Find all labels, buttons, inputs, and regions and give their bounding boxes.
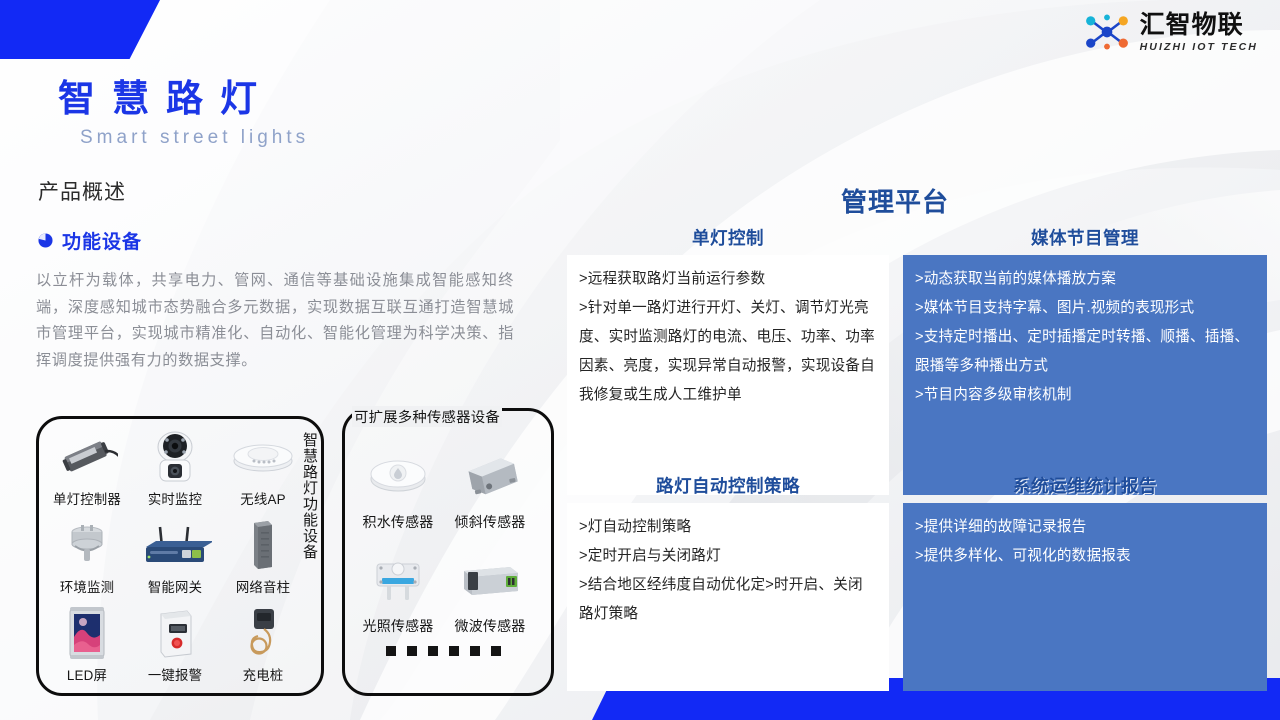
- device-item-realtime-monitoring: 实时监控: [132, 420, 218, 508]
- sensor-label: 倾斜传感器: [455, 512, 526, 532]
- device-item-network-speaker: 网络音柱: [220, 508, 306, 596]
- feature-devices-heading: 功能设备: [38, 227, 142, 254]
- device-item-wireless-ap: 无线AP: [220, 420, 306, 508]
- page-title-en: Smart street lights: [80, 127, 309, 149]
- led-driver-icon: [56, 429, 118, 485]
- card-title: 媒体节目管理: [903, 225, 1267, 250]
- platform-title: 管理平台: [841, 182, 949, 219]
- card-title: 单灯控制: [567, 225, 889, 250]
- network-speaker-icon: [248, 517, 278, 573]
- dot: [449, 646, 459, 656]
- emergency-call-icon: [154, 605, 196, 661]
- card-line: >节目内容多级审核机制: [915, 381, 1255, 410]
- sensor-box-dots: [386, 646, 501, 656]
- card-auto-control-strategy: 路灯自动控制策略 >灯自动控制策略 >定时开启与关闭路灯 >结合地区经纬度自动优…: [567, 473, 889, 691]
- device-item-smart-gateway: 智能网关: [132, 508, 218, 596]
- card-line: >针对单一路灯进行开灯、关灯、调节灯光亮度、实时监测路灯的电流、电压、功率、功率…: [579, 294, 877, 410]
- section-title-overview: 产品概述: [38, 176, 126, 206]
- device-item-ev-charger: 充电桩: [220, 596, 306, 684]
- device-grid: 单灯控制器 实时监控: [44, 420, 306, 684]
- device-item-environment-monitoring: 环境监测: [44, 508, 130, 596]
- overview-paragraph: 以立杆为载体，共享电力、管网、通信等基础设施集成智能感知终端，深度感知城市态势融…: [36, 268, 514, 374]
- logo-name-cn: 汇智物联: [1140, 12, 1258, 37]
- page-title-cn: 智慧路灯: [58, 68, 274, 122]
- card-line: >远程获取路灯当前运行参数: [579, 265, 877, 294]
- sensor-label: 光照传感器: [363, 616, 434, 636]
- molecule-network-icon: [1083, 12, 1131, 52]
- dot: [470, 646, 480, 656]
- ptz-camera-icon: [152, 429, 198, 485]
- feature-devices-label: 功能设备: [62, 227, 142, 254]
- card-body: >灯自动控制策略 >定时开启与关闭路灯 >结合地区经纬度自动优化定>时开启、关闭…: [567, 503, 889, 691]
- device-label: 实时监控: [148, 488, 202, 508]
- device-label: 网络音柱: [236, 576, 290, 596]
- device-item-single-lamp-controller: 单灯控制器: [44, 420, 130, 508]
- card-body: >动态获取当前的媒体播放方案 >媒体节目支持字幕、图片.视频的表现形式 >支持定…: [903, 255, 1267, 495]
- sensor-grid: 积水传感器 倾斜传感器: [352, 428, 536, 636]
- device-label: 环境监测: [60, 576, 114, 596]
- sensor-item-light: 光照传感器: [352, 532, 444, 636]
- card-line: >灯自动控制策略: [579, 513, 877, 542]
- card-line: >支持定时播出、定时插播定时转播、顺播、插播、跟播等多种播出方式: [915, 323, 1255, 381]
- device-item-emergency-call: 一键报警: [132, 596, 218, 684]
- wireless-ap-icon: [230, 429, 296, 485]
- sensor-item-tilt: 倾斜传感器: [444, 428, 536, 532]
- card-body: >远程获取路灯当前运行参数 >针对单一路灯进行开灯、关灯、调节灯光亮度、实时监测…: [567, 255, 889, 495]
- device-label: 充电桩: [243, 664, 284, 684]
- card-line: >提供详细的故障记录报告: [915, 513, 1255, 542]
- card-line: >结合地区经纬度自动优化定>时开启、关闭路灯策略: [579, 571, 877, 629]
- led-screen-icon: [67, 605, 107, 661]
- card-line: >定时开启与关闭路灯: [579, 542, 877, 571]
- device-item-led-screen: LED屏: [44, 596, 130, 684]
- sensor-item-water-level: 积水传感器: [352, 428, 444, 532]
- ev-charger-icon: [243, 605, 283, 661]
- device-label: 无线AP: [240, 488, 285, 508]
- card-line: >提供多样化、可视化的数据报表: [915, 542, 1255, 571]
- card-line: >媒体节目支持字幕、图片.视频的表现形式: [915, 294, 1255, 323]
- smart-gateway-icon: [138, 517, 212, 573]
- card-ops-statistics-report: 系统运维统计报告 >提供详细的故障记录报告 >提供多样化、可视化的数据报表: [903, 473, 1267, 691]
- card-single-lamp-control: 单灯控制 >远程获取路灯当前运行参数 >针对单一路灯进行开灯、关灯、调节灯光亮度…: [567, 225, 889, 495]
- light-sensor-icon: [363, 547, 433, 613]
- sensor-box-title: 可扩展多种传感器设备: [352, 406, 502, 427]
- environment-sensor-icon: [61, 517, 113, 573]
- tilt-sensor-icon: [454, 443, 526, 509]
- dot: [428, 646, 438, 656]
- brand-logo: 汇智物联 HUIZHI IOT TECH: [1083, 12, 1258, 53]
- card-body: >提供详细的故障记录报告 >提供多样化、可视化的数据报表: [903, 503, 1267, 691]
- device-label: LED屏: [67, 664, 107, 684]
- card-title: 系统运维统计报告: [903, 473, 1267, 498]
- device-label: 智能网关: [148, 576, 202, 596]
- pie-dot-icon: [38, 233, 53, 248]
- sensor-item-microwave: 微波传感器: [444, 532, 536, 636]
- water-level-sensor-icon: [365, 443, 431, 509]
- microwave-sensor-icon: [454, 547, 526, 613]
- dot: [491, 646, 501, 656]
- dot: [407, 646, 417, 656]
- card-line: >动态获取当前的媒体播放方案: [915, 265, 1255, 294]
- logo-name-en: HUIZHI IOT TECH: [1140, 42, 1258, 53]
- card-media-program-management: 媒体节目管理 >动态获取当前的媒体播放方案 >媒体节目支持字幕、图片.视频的表现…: [903, 225, 1267, 495]
- device-label: 一键报警: [148, 664, 202, 684]
- dot: [386, 646, 396, 656]
- card-title: 路灯自动控制策略: [567, 473, 889, 498]
- sensor-label: 积水传感器: [363, 512, 434, 532]
- sensor-label: 微波传感器: [455, 616, 526, 636]
- device-label: 单灯控制器: [53, 488, 121, 508]
